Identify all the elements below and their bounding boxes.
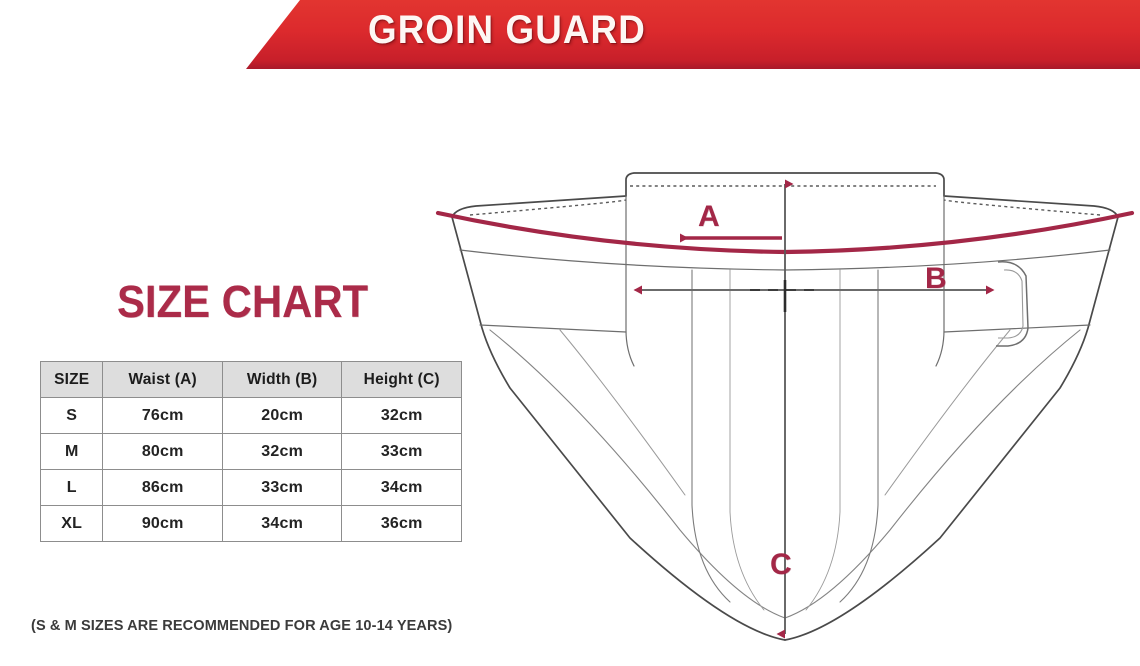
dimension-label-a: A <box>698 200 720 234</box>
size-table: SIZE Waist (A) Width (B) Height (C) S 76… <box>40 361 462 542</box>
table-header-row: SIZE Waist (A) Width (B) Height (C) <box>41 362 462 398</box>
size-chart-page: GROIN GUARD SIZE CHART SIZE Waist (A) Wi… <box>0 0 1140 666</box>
cell-width: 34cm <box>222 506 341 542</box>
banner-title: GROIN GUARD <box>368 8 646 53</box>
dimension-label-c: C <box>770 548 792 582</box>
cell-size: XL <box>41 506 103 542</box>
size-chart-title: SIZE CHART <box>117 276 368 328</box>
cell-size: S <box>41 398 103 434</box>
cell-size: M <box>41 434 103 470</box>
column-header-width: Width (B) <box>222 362 341 398</box>
table-header: SIZE Waist (A) Width (B) Height (C) <box>41 362 462 398</box>
table-row: L 86cm 33cm 34cm <box>41 470 462 506</box>
table-body: S 76cm 20cm 32cm M 80cm 32cm 33cm L 86cm… <box>41 398 462 542</box>
header-banner: GROIN GUARD <box>0 0 1140 70</box>
groin-guard-diagram: A B C <box>430 140 1140 660</box>
table-row: M 80cm 32cm 33cm <box>41 434 462 470</box>
size-recommendation-note: (S & M SIZES ARE RECOMMENDED FOR AGE 10-… <box>31 617 452 634</box>
cell-width: 20cm <box>222 398 341 434</box>
table-row: XL 90cm 34cm 36cm <box>41 506 462 542</box>
cell-waist: 86cm <box>103 470 222 506</box>
column-header-waist: Waist (A) <box>103 362 222 398</box>
side-strap-loop <box>996 262 1028 346</box>
cell-waist: 80cm <box>103 434 222 470</box>
cell-waist: 76cm <box>103 398 222 434</box>
cell-waist: 90cm <box>103 506 222 542</box>
column-header-size: SIZE <box>41 362 103 398</box>
table-row: S 76cm 20cm 32cm <box>41 398 462 434</box>
groin-guard-illustration <box>430 140 1140 660</box>
cell-width: 33cm <box>222 470 341 506</box>
dimension-label-b: B <box>925 262 947 296</box>
cell-width: 32cm <box>222 434 341 470</box>
cell-size: L <box>41 470 103 506</box>
